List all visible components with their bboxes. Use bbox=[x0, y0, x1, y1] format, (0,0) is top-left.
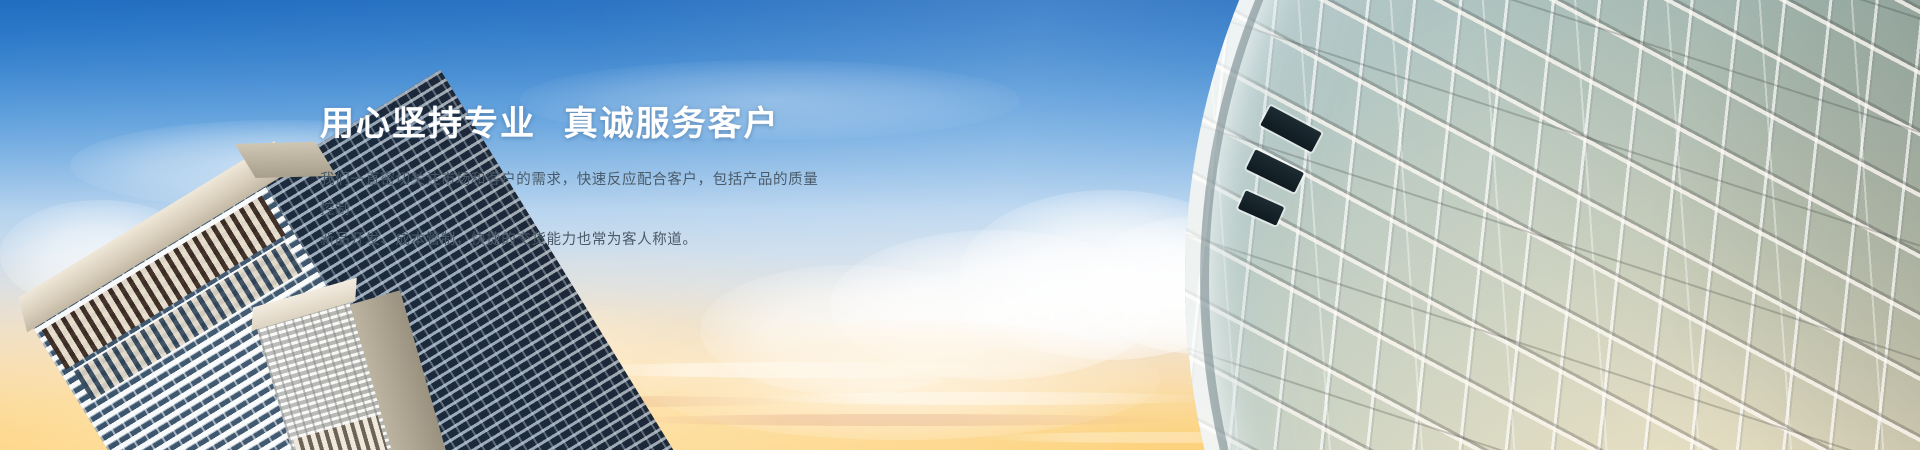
cloud-streak-horizon-1 bbox=[560, 362, 1080, 378]
cloud-puff-midright bbox=[0, 200, 200, 310]
right-tower-edge-shadow bbox=[1200, 0, 1920, 450]
hero-banner: 用心坚持专业 真诚服务客户 我们一直密切关注市场和客户的需求，快速反应配合客户，… bbox=[0, 0, 1920, 450]
cloud-streak-horizon-4 bbox=[420, 396, 800, 407]
banner-headline: 用心坚持专业 真诚服务客户 bbox=[320, 104, 960, 144]
banner-paragraph: 我们一直密切关注市场和客户的需求，快速反应配合客户，包括产品的质量控制、 新品开… bbox=[320, 166, 820, 255]
banner-paragraph-line-2: 新品开发、成本管制，快捷的交货能力也常为客人称道。 bbox=[320, 226, 820, 256]
banner-paragraph-line-1: 我们一直密切关注市场和客户的需求，快速反应配合客户，包括产品的质量控制、 bbox=[320, 166, 820, 225]
banner-text-block: 用心坚持专业 真诚服务客户 我们一直密切关注市场和客户的需求，快速反应配合客户，… bbox=[320, 104, 960, 255]
right-curved-glass-tower bbox=[1090, 0, 1920, 450]
